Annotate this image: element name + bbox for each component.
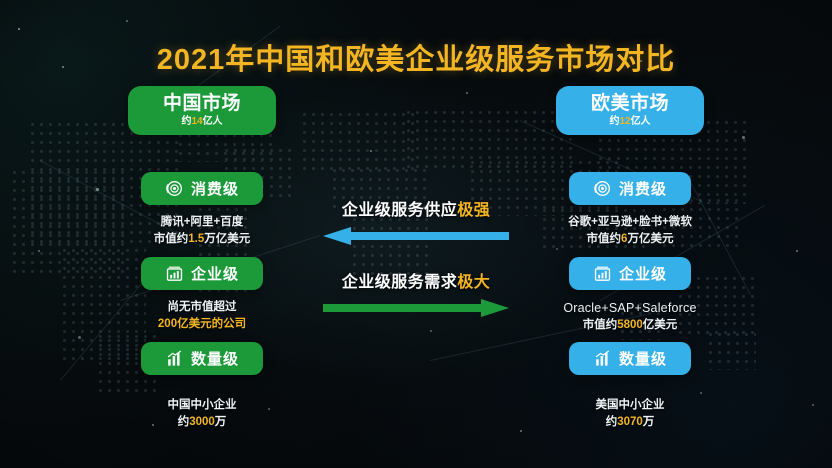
- china-market-header-pill[interactable]: 中国市场 约14亿人: [128, 86, 276, 135]
- china-item-consumer-label: 消费级: [191, 178, 239, 199]
- growth-bars-icon: [593, 349, 612, 368]
- target-circle-icon: [593, 179, 612, 198]
- western-item-enterprise-label: 企业级: [619, 263, 667, 284]
- bar-chart-building-icon: [165, 264, 184, 283]
- arrow-right-icon: [323, 299, 509, 317]
- target-circle-icon: [165, 179, 184, 198]
- demand-arrow-caption: 企业级服务需求极大: [301, 268, 531, 292]
- china-item-enterprise: 企业级 尚无市值超过 200亿美元的公司: [72, 257, 332, 332]
- china-item-consumer-desc: 腾讯+阿里+百度 市值约1.5万亿美元: [72, 214, 332, 247]
- western-item-consumer: 消费级 谷歌+亚马逊+脸书+微软 市值约6万亿美元: [500, 172, 760, 247]
- western-market-column: 欧美市场 约12亿人 消费级 谷歌+亚马逊+脸书+微软 市值约6万亿美元: [500, 86, 760, 135]
- china-market-column: 中国市场 约14亿人 消费级 腾讯+阿里+百度 市值约1.5万亿美元: [72, 86, 332, 135]
- china-item-enterprise-desc: 尚无市值超过 200亿美元的公司: [72, 299, 332, 332]
- china-item-enterprise-label: 企业级: [191, 263, 239, 284]
- china-market-name: 中国市场: [163, 94, 241, 114]
- western-item-quantity-pill[interactable]: 数量级: [569, 342, 691, 375]
- demand-arrow-block: 企业级服务需求极大: [301, 268, 531, 317]
- china-item-consumer-pill[interactable]: 消费级: [141, 172, 263, 205]
- china-item-quantity-label: 数量级: [191, 348, 239, 369]
- slide-canvas: 2021年中国和欧美企业级服务市场对比 中国市场 约14亿人 消费级 腾讯+阿里…: [0, 0, 832, 468]
- western-item-enterprise: 企业级 Oracle+SAP+Saleforce 市值约5800亿美元: [500, 257, 760, 334]
- china-item-quantity-pill[interactable]: 数量级: [141, 342, 263, 375]
- western-item-consumer-desc: 谷歌+亚马逊+脸书+微软 市值约6万亿美元: [500, 214, 760, 247]
- western-market-name: 欧美市场: [591, 94, 669, 114]
- western-item-enterprise-pill[interactable]: 企业级: [569, 257, 691, 290]
- arrow-left-icon: [323, 227, 509, 245]
- china-market-population: 约14亿人: [181, 117, 222, 127]
- western-item-consumer-label: 消费级: [619, 178, 667, 199]
- china-item-quantity-desc: 中国中小企业 约3000万: [72, 397, 332, 430]
- western-item-quantity-label: 数量级: [619, 348, 667, 369]
- china-item-quantity: 数量级 中国中小企业 约3000万: [72, 342, 332, 430]
- western-market-population: 约12亿人: [609, 117, 650, 127]
- western-item-quantity: 数量级 美国中小企业 约3070万: [500, 342, 760, 430]
- western-item-enterprise-desc: Oracle+SAP+Saleforce 市值约5800亿美元: [500, 299, 760, 334]
- bar-chart-building-icon: [593, 264, 612, 283]
- china-item-enterprise-pill[interactable]: 企业级: [141, 257, 263, 290]
- growth-bars-icon: [165, 349, 184, 368]
- supply-arrow-block: 企业级服务供应极强: [301, 196, 531, 245]
- page-title: 2021年中国和欧美企业级服务市场对比: [0, 36, 832, 78]
- western-item-consumer-pill[interactable]: 消费级: [569, 172, 691, 205]
- western-item-quantity-desc: 美国中小企业 约3070万: [500, 397, 760, 430]
- supply-arrow-caption: 企业级服务供应极强: [301, 196, 531, 220]
- western-market-header-pill[interactable]: 欧美市场 约12亿人: [556, 86, 704, 135]
- china-item-consumer: 消费级 腾讯+阿里+百度 市值约1.5万亿美元: [72, 172, 332, 247]
